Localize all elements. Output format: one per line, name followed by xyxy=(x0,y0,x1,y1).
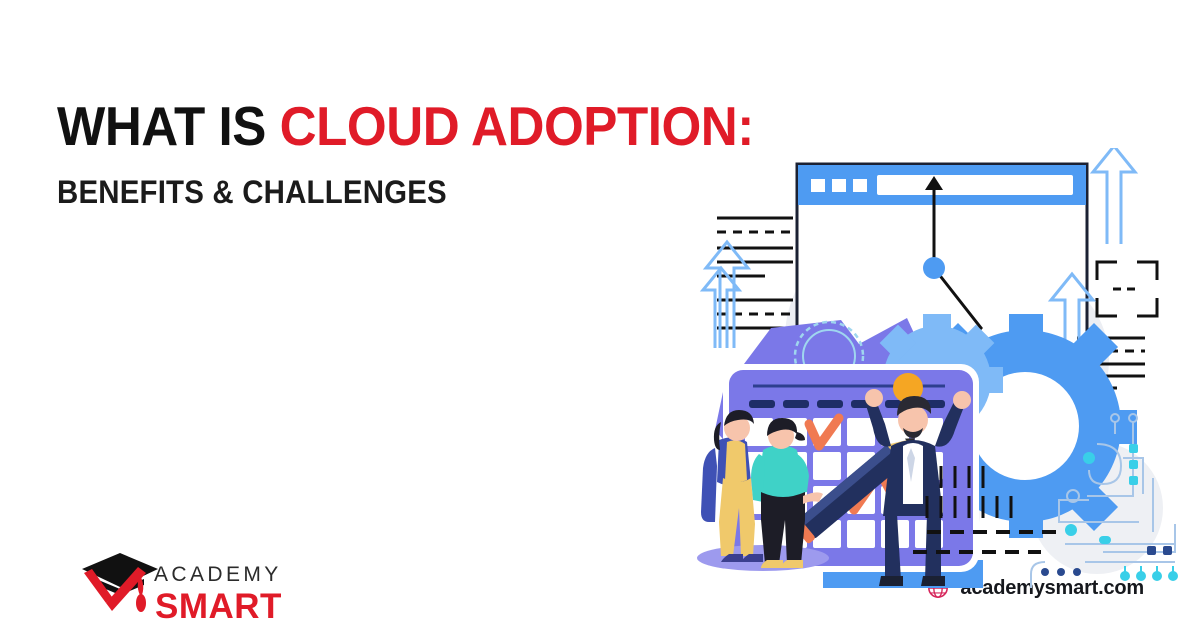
logo[interactable]: ACADEMY SMART xyxy=(72,545,287,625)
page-title: WHAT IS CLOUD ADOPTION: xyxy=(57,96,727,156)
shirt-man xyxy=(903,443,923,504)
headline-block: WHAT IS CLOUD ADOPTION: xyxy=(57,96,777,156)
arrow-up-outline-4 xyxy=(1093,148,1135,244)
hand-right-man xyxy=(953,391,971,409)
browser-address-bar xyxy=(877,175,1073,195)
cloud-adoption-illustration xyxy=(645,148,1200,588)
dashed-bracket-box xyxy=(1097,262,1157,316)
hand-left-man xyxy=(865,389,883,407)
node-dot-top xyxy=(923,257,945,279)
headline-part-plain: WHAT IS xyxy=(57,95,280,157)
shoe-man-left xyxy=(879,576,903,586)
logo-word-academy: ACADEMY xyxy=(154,563,282,586)
logo-word-smart: SMART xyxy=(155,587,282,625)
illustration-svg xyxy=(645,148,1200,588)
logo-svg: ACADEMY SMART xyxy=(72,545,287,625)
banner-root: WHAT IS CLOUD ADOPTION: BENEFITS & CHALL… xyxy=(0,0,1200,644)
shoe-man-right xyxy=(921,576,945,586)
page-subtitle: BENEFITS & CHALLENGES xyxy=(57,172,447,212)
